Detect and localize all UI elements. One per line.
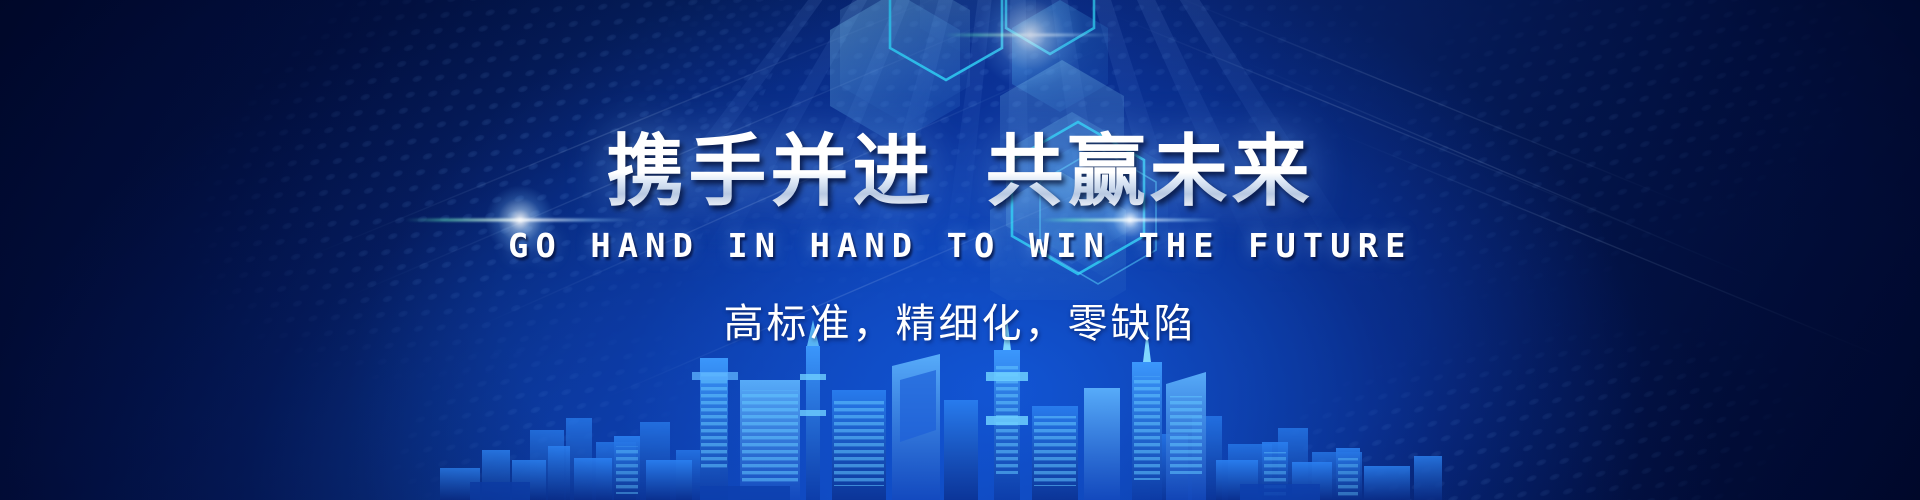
page-title: 携手并进 共赢未来 xyxy=(606,130,1313,212)
promo-banner: 携手并进 共赢未来 GO HAND IN HAND TO WIN THE FUT… xyxy=(0,0,1920,500)
subtitle-english: GO HAND IN HAND TO WIN THE FUTURE xyxy=(508,226,1412,265)
subtitle-chinese: 高标准，精细化，零缺陷 xyxy=(724,291,1197,349)
banner-text-block: 携手并进 共赢未来 GO HAND IN HAND TO WIN THE FUT… xyxy=(0,0,1920,500)
